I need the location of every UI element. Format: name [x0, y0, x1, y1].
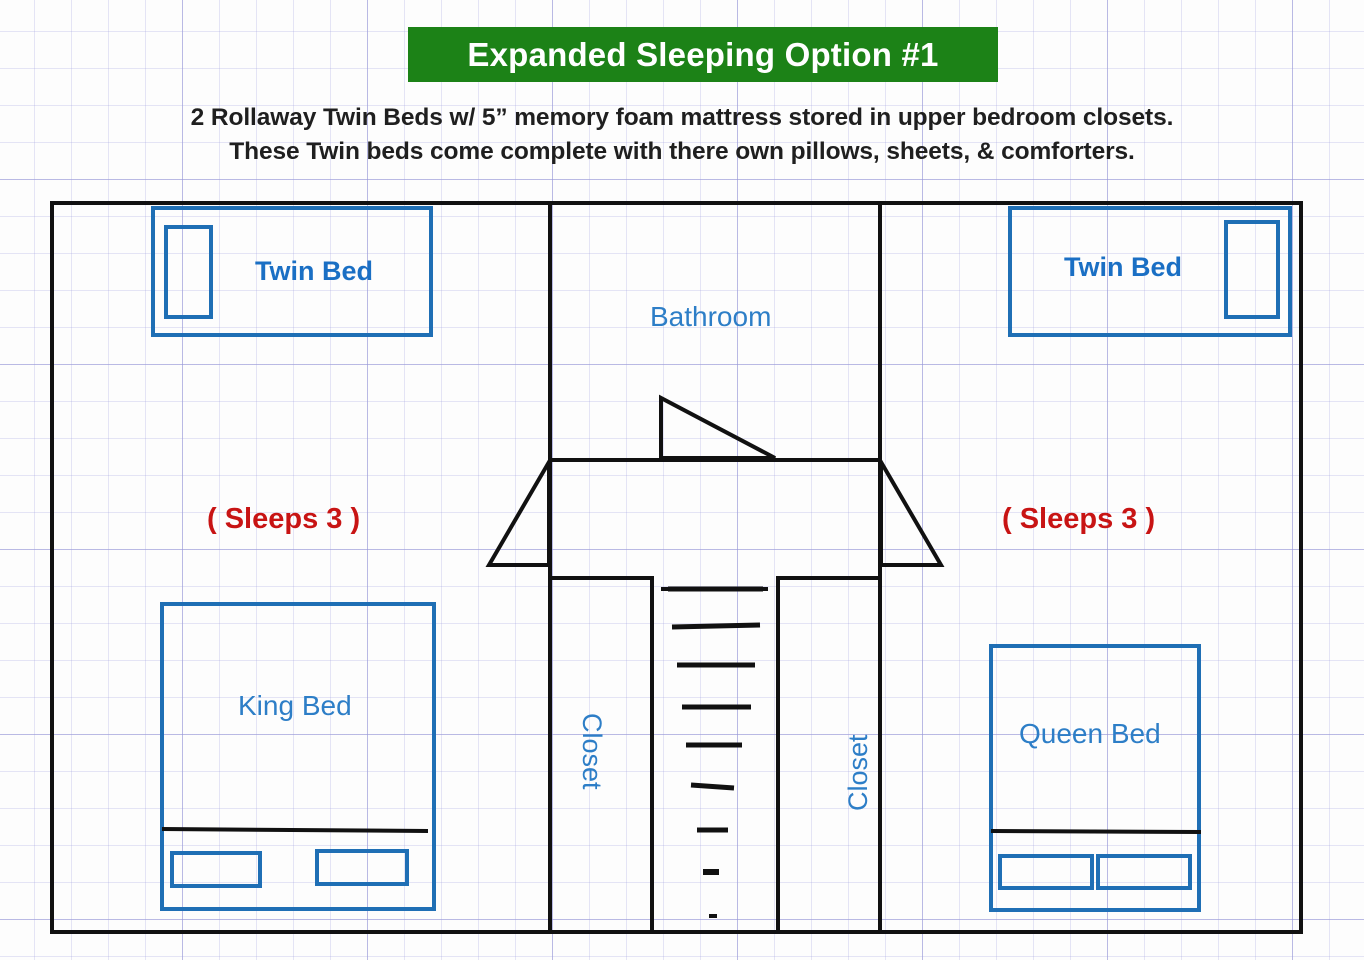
door-swings [489, 398, 941, 565]
door-swing-left-bedroom [489, 462, 549, 565]
twin-bed-left [153, 208, 431, 335]
twin-bed-right-pillow [1226, 222, 1278, 317]
interior-walls-upper [550, 203, 880, 460]
king-bed-pillow-2 [317, 851, 407, 884]
stair-tread-2 [672, 625, 760, 627]
outer-walls [52, 203, 1301, 932]
queen-bed-pillow-2 [1098, 856, 1190, 888]
floorplan-drawing [0, 0, 1364, 960]
interior-walls-lower [550, 578, 880, 932]
king-bed-pillow-1 [172, 853, 260, 886]
king-bed-frame [162, 604, 434, 909]
stair-tread-6 [691, 785, 734, 788]
queen-bed-pillow-1 [1000, 856, 1092, 888]
hall-walls [550, 460, 880, 589]
queen-bed [991, 646, 1201, 910]
stairway [668, 589, 763, 916]
queen-bed-headboard-line [991, 831, 1201, 832]
twin-bed-right [1010, 208, 1290, 335]
floorplan-page: Expanded Sleeping Option #1 2 Rollaway T… [0, 0, 1364, 960]
queen-bed-frame [991, 646, 1199, 910]
door-swing-bathroom [661, 398, 775, 458]
twin-bed-left-pillow [166, 227, 211, 317]
king-bed-headboard-line [162, 829, 428, 831]
door-swing-right-bedroom [881, 462, 941, 565]
king-bed [162, 604, 434, 909]
